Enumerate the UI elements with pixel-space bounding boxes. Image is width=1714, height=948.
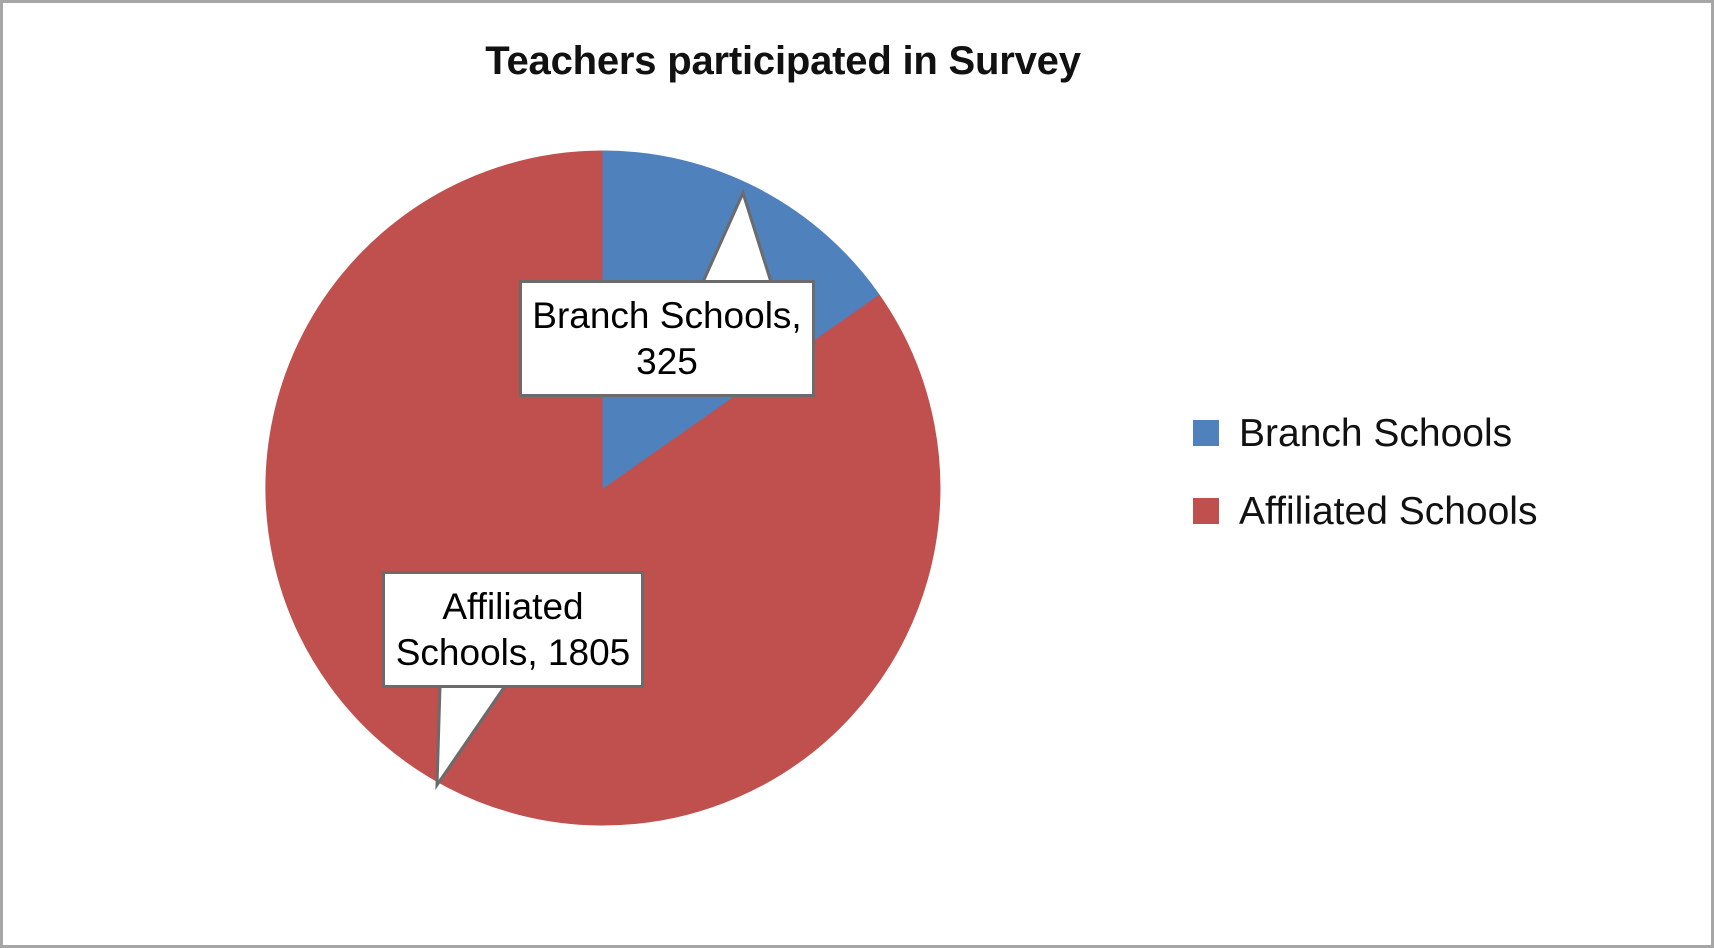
- data-label-branch-schools[interactable]: Branch Schools, 325: [519, 280, 815, 397]
- legend-item-label: Affiliated Schools: [1239, 492, 1537, 531]
- chart-legend: Branch Schools Affiliated Schools: [1193, 411, 1593, 567]
- square-swatch-icon: [1193, 498, 1219, 524]
- data-label-affiliated-schools-text: Affiliated Schools, 1805: [395, 584, 631, 674]
- data-label-branch-schools-text: Branch Schools, 325: [532, 293, 802, 383]
- legend-item-branch-schools[interactable]: Branch Schools: [1193, 411, 1593, 455]
- legend-item-label: Branch Schools: [1239, 414, 1512, 453]
- chart-frame: Teachers participated in Survey Branch S…: [0, 0, 1714, 948]
- square-swatch-icon: [1193, 420, 1219, 446]
- data-label-affiliated-schools[interactable]: Affiliated Schools, 1805: [382, 571, 644, 688]
- legend-item-affiliated-schools[interactable]: Affiliated Schools: [1193, 489, 1593, 533]
